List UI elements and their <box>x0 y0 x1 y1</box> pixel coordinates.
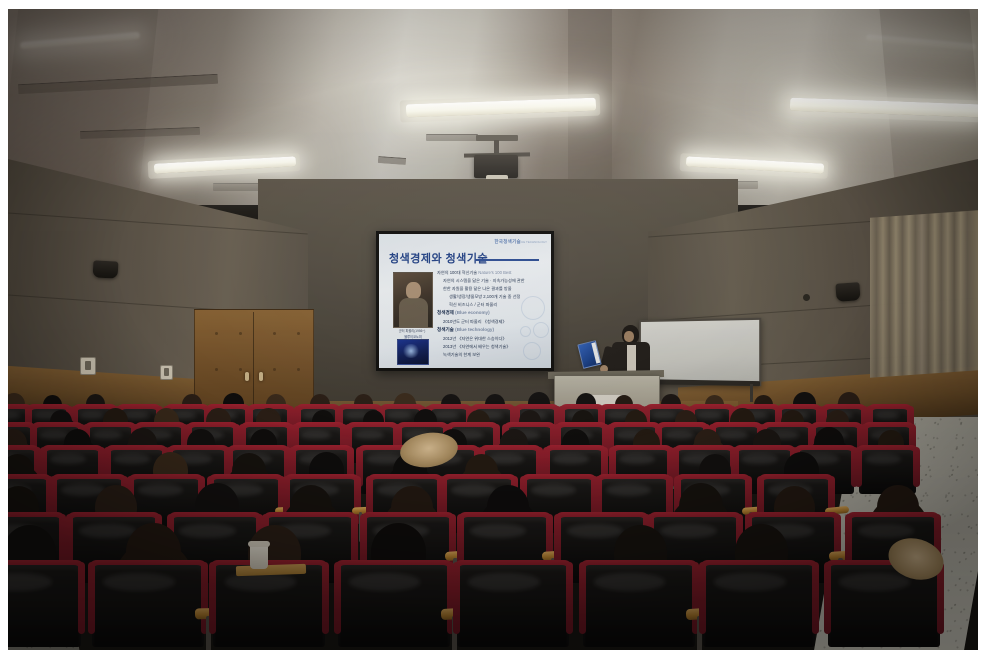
auditorium-seat[interactable] <box>92 565 204 647</box>
slide-text-line: 2012년 《자연은 위대한 스승이다》 <box>443 336 507 342</box>
seat-highlight <box>92 431 122 439</box>
auditorium-seat[interactable] <box>338 565 450 647</box>
ceiling-vent-6 <box>426 134 478 141</box>
wall-speaker-left <box>93 260 119 278</box>
projector-mount-arm <box>494 140 499 154</box>
seat-highlight <box>552 454 589 464</box>
coffee-cup <box>250 545 268 569</box>
seat-rim-left <box>88 562 95 634</box>
seat-rim-right <box>322 562 329 634</box>
seat-highlight <box>50 454 87 464</box>
presentation-slide: 한국청색기술 BLUE TECHNOLOGY 청색경제와 청색기술 군터 파울리… <box>379 234 551 368</box>
door-stud-8 <box>297 368 300 371</box>
lecture-hall-photo: 한국청색기술 BLUE TECHNOLOGY 청색경제와 청색기술 군터 파울리… <box>8 9 978 650</box>
slide-portrait-caption: 군터 파울리(1956~) <box>387 328 437 333</box>
projection-screen: 한국청색기술 BLUE TECHNOLOGY 청색경제와 청색기술 군터 파울리… <box>379 234 551 368</box>
slide-logo-subtitle: BLUE TECHNOLOGY <box>517 240 547 244</box>
door-stud-6 <box>239 368 242 371</box>
seat-rim-left <box>699 562 706 634</box>
slide-title: 청색경제와 청색기술 <box>389 250 488 266</box>
seat-rim-left <box>824 562 831 634</box>
slide-text-line-english: (Blue technology) <box>454 327 494 332</box>
window-curtain <box>870 210 978 378</box>
outlet-socket-2 <box>164 368 169 376</box>
seat-highlight <box>651 412 677 419</box>
photo-frame: 한국청색기술 BLUE TECHNOLOGY 청색경제와 청색기술 군터 파울리… <box>0 0 986 660</box>
door-handle-left[interactable] <box>245 372 249 381</box>
seat-highlight <box>300 431 330 439</box>
presenter-shirt <box>627 345 636 371</box>
auditorium-seat[interactable] <box>8 565 81 647</box>
door-stud-1 <box>215 332 218 335</box>
outlet-socket <box>85 361 91 370</box>
slide-bubble-4 <box>523 342 541 360</box>
slide-text-line: 혁신 비즈니스 / 군터 파울리 <box>449 302 497 308</box>
seat-rim-left <box>209 562 216 634</box>
portrait-face <box>406 282 421 299</box>
seat-rim-left <box>579 562 586 634</box>
slide-bubble-3 <box>520 326 531 337</box>
seat-highlight <box>113 454 150 464</box>
auditorium-seat[interactable] <box>703 565 815 647</box>
slide-text-line: 녹색기술의 한계 보완 <box>443 352 480 358</box>
seat-highlight <box>386 412 412 419</box>
cup-lid <box>248 541 270 547</box>
seat-highlight <box>79 412 105 419</box>
seat-rim-right <box>78 562 85 634</box>
seat-highlight <box>664 431 694 439</box>
seat-highlight <box>103 573 175 591</box>
door-stud-3 <box>273 332 276 335</box>
door-handle-right[interactable] <box>259 372 263 381</box>
seat-highlight <box>741 454 778 464</box>
auditorium-seat[interactable] <box>583 565 695 647</box>
seat-highlight <box>858 524 914 539</box>
door-stud-2 <box>239 332 242 335</box>
wall-fixture-right-small <box>803 294 810 301</box>
seat-rim-right <box>812 562 819 634</box>
seat-highlight <box>874 412 900 419</box>
auditorium-seat[interactable] <box>213 565 325 647</box>
whiteboard-leg-right <box>750 384 753 402</box>
seat-highlight <box>470 524 526 539</box>
book-cover-glow <box>402 344 420 358</box>
wall-outlet-1[interactable] <box>80 357 96 375</box>
seat-rim-right <box>913 447 920 487</box>
seat-rim-right <box>566 562 573 634</box>
seat-highlight <box>354 431 384 439</box>
seat-highlight <box>696 412 722 419</box>
seat-rim-left <box>334 562 341 634</box>
portrait-body <box>399 298 428 327</box>
slide-text-line: 자연의 100대 혁신기술 Nature's 100 Best <box>437 270 511 276</box>
slide-text-line-english: Nature's 100 Best <box>477 270 511 275</box>
seat-highlight <box>660 524 716 539</box>
slide-text-line-english: (Blue economy) <box>454 310 490 315</box>
slide-text-line: 2013년 《자연에서 배우는 청색기술》 <box>443 344 510 350</box>
seat-highlight <box>619 454 656 464</box>
door-stud-5 <box>215 368 218 371</box>
seat-rim-left <box>855 447 862 487</box>
slide-text-line: 한한 자원을 활용 닮은 나온 결과를 방울 <box>443 286 512 292</box>
slide-text-line: 2010년도 군터 파울리 《청색경제》 <box>443 319 507 325</box>
wall-speaker-right <box>835 282 860 302</box>
auditorium-seat[interactable] <box>457 565 569 647</box>
slide-bubble-2 <box>533 322 549 338</box>
wall-outlet-2[interactable] <box>160 365 173 380</box>
slide-book-cover <box>397 339 429 365</box>
slide-portrait-photo <box>393 272 433 328</box>
projection-screen-frame: 한국청색기술 BLUE TECHNOLOGY 청색경제와 청색기술 군터 파울리… <box>376 231 554 371</box>
presenter-face <box>624 331 634 342</box>
seat-highlight <box>717 431 747 439</box>
slide-bubble-1 <box>521 296 545 320</box>
door-stud-4 <box>297 332 300 335</box>
cup-body <box>250 545 268 569</box>
slide-title-underline <box>475 259 539 261</box>
seat-highlight <box>179 524 235 539</box>
door-stud-7 <box>273 368 276 371</box>
slide-text-line: 청색경제 (Blue economy) <box>437 310 490 316</box>
slide-text-line: 자연의 시스템을 닮은 기술 · 지속가능성에 관한 <box>443 278 525 284</box>
seat-rim-left <box>453 562 460 634</box>
slide-text-line: 청색기술 (Blue technology) <box>437 327 494 333</box>
slide-text-line: 생활/생장/생물모방 2,100개 기술 중 선정 <box>449 294 520 300</box>
